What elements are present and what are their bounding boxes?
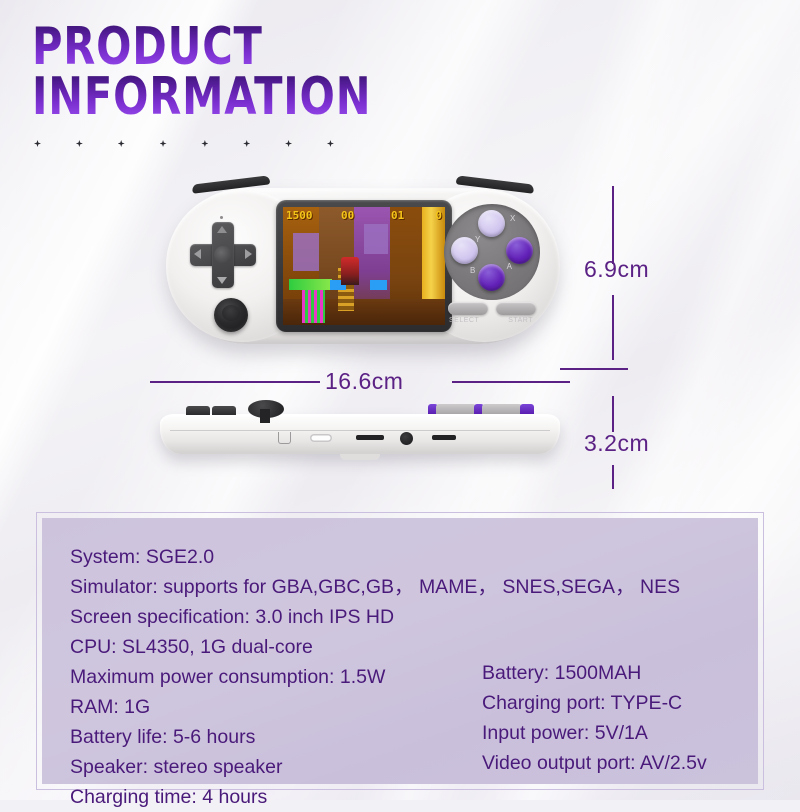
hud-lives: 01 xyxy=(391,209,404,222)
specifications-inner: System: SGE2.0 Simulator: supports for G… xyxy=(42,518,758,784)
start-button xyxy=(496,302,536,315)
side-purple-button-3 xyxy=(520,404,534,414)
title-line-2: INFORMATION xyxy=(32,72,376,122)
dpad-down-arrow-icon xyxy=(217,277,227,284)
side-shoulder-button-l1 xyxy=(186,406,210,415)
game-screen: 1500 00 01 0 xyxy=(283,207,445,325)
width-measure-line-right xyxy=(452,381,570,383)
thumbstick xyxy=(214,298,248,332)
diamond-icon xyxy=(243,140,250,147)
button-a xyxy=(506,237,533,264)
spec-row: Screen specification: 3.0 inch IPS HD xyxy=(70,602,758,632)
console-front-view: 1500 00 01 0 X Y A B SELECT START xyxy=(168,178,558,350)
console-side-foot xyxy=(340,454,380,460)
diamond-icon xyxy=(201,140,208,147)
select-label: SELECT xyxy=(449,317,479,324)
hud-timer: 0 xyxy=(435,209,442,222)
width-measure-line-left xyxy=(150,381,320,383)
button-y-label: Y xyxy=(475,235,480,244)
width-measure-label: 16.6cm xyxy=(325,368,403,395)
console-side-seam xyxy=(170,430,550,431)
tf-card-slot xyxy=(356,435,384,440)
height-measure-label: 6.9cm xyxy=(584,256,649,283)
action-button-cluster: X Y A B xyxy=(444,204,540,300)
hud-coins: 00 xyxy=(341,209,354,222)
diamond-icon xyxy=(76,140,83,147)
game-pipe xyxy=(302,290,325,323)
spec-row: Simulator: supports for GBA,GBC,GB， MAME… xyxy=(70,572,758,602)
indicator-led xyxy=(220,216,223,219)
hud-score: 1500 xyxy=(286,209,313,222)
headphone-jack xyxy=(400,432,413,445)
spec-row: Charging port: TYPE-C xyxy=(482,688,707,718)
usb-c-port xyxy=(310,434,332,442)
spec-row: Input power: 5V/1A xyxy=(482,718,707,748)
side-shoulder-button-r1 xyxy=(436,404,476,414)
height-measure-line-bottom xyxy=(612,295,614,360)
depth-measure-line-top xyxy=(612,396,614,432)
depth-measure-label: 3.2cm xyxy=(584,430,649,457)
diamond-icon xyxy=(285,140,292,147)
side-shoulder-button-l2 xyxy=(212,406,236,415)
select-button xyxy=(448,302,488,315)
diamond-icon xyxy=(327,140,334,147)
game-block xyxy=(293,233,319,271)
button-x xyxy=(478,210,505,237)
button-a-label: A xyxy=(507,262,512,271)
spec-row: Battery: 1500MAH xyxy=(482,658,707,688)
diamond-icon xyxy=(160,140,167,147)
button-b xyxy=(478,264,505,291)
game-character xyxy=(341,257,359,285)
decorative-diamonds xyxy=(34,140,334,147)
specifications-right-column: Battery: 1500MAH Charging port: TYPE-C I… xyxy=(482,658,707,778)
dpad-right-arrow-icon xyxy=(245,249,252,259)
button-y xyxy=(451,237,478,264)
button-b-label: B xyxy=(470,266,475,275)
start-label: START xyxy=(508,317,533,324)
side-shoulder-button-r2 xyxy=(482,404,522,414)
button-x-label: X xyxy=(510,214,515,223)
height-measure-tick xyxy=(560,368,628,370)
game-hud: 1500 00 01 0 xyxy=(283,209,445,222)
page-title: PRODUCT INFORMATION xyxy=(32,22,462,122)
height-measure-line-top xyxy=(612,186,614,264)
select-start-cluster: SELECT START xyxy=(448,302,536,328)
usb-symbol-icon xyxy=(278,432,291,444)
spec-row: System: SGE2.0 xyxy=(70,542,758,572)
console-side-view xyxy=(160,400,560,468)
dpad xyxy=(190,222,256,288)
av-output-slot xyxy=(432,435,456,440)
spec-row: Charging time: 4 hours xyxy=(70,782,758,812)
diamond-icon xyxy=(34,140,41,147)
title-line-1: PRODUCT xyxy=(32,22,376,72)
dpad-center xyxy=(214,246,232,264)
diamond-icon xyxy=(118,140,125,147)
console-screen-bezel: 1500 00 01 0 xyxy=(276,200,452,332)
side-thumbstick xyxy=(248,400,284,418)
spec-row: Video output port: AV/2.5v xyxy=(482,748,707,778)
console-side-body xyxy=(160,414,560,454)
specifications-panel: System: SGE2.0 Simulator: supports for G… xyxy=(36,512,764,790)
dpad-left-arrow-icon xyxy=(194,249,201,259)
dpad-up-arrow-icon xyxy=(217,226,227,233)
game-block xyxy=(364,224,388,255)
depth-measure-line-bottom xyxy=(612,465,614,489)
game-item xyxy=(370,280,386,289)
game-platform xyxy=(289,279,331,290)
